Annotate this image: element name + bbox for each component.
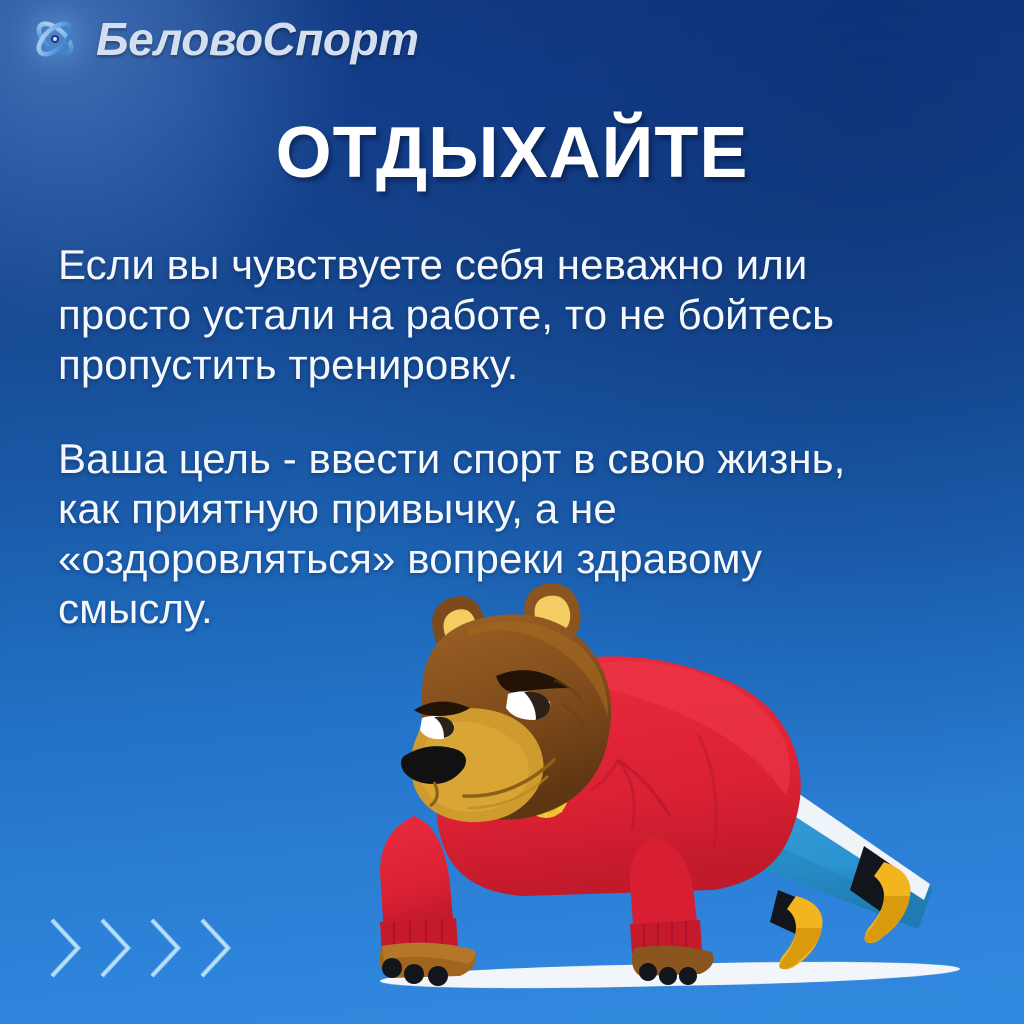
body-copy: Если вы чувствуете себя неважно или прос… — [58, 240, 938, 634]
brand-name: БеловоСпорт — [96, 12, 418, 66]
chevron-decoration — [42, 912, 240, 984]
chevron-right-icon — [92, 912, 140, 984]
poster-canvas: БеловоСпорт ОТДЫХАЙТЕ Если вы чувствуете… — [0, 0, 1024, 1024]
atom-icon — [26, 10, 84, 68]
chevron-right-icon — [42, 912, 90, 984]
chevron-right-icon — [192, 912, 240, 984]
paragraph-1: Если вы чувствуете себя неважно или прос… — [58, 240, 938, 390]
bear-illustration — [318, 584, 978, 1004]
page-title: ОТДЫХАЙТЕ — [0, 112, 1024, 194]
brand-logo[interactable]: БеловоСпорт — [26, 10, 418, 68]
chevron-right-icon — [142, 912, 190, 984]
bear-head — [401, 584, 611, 822]
